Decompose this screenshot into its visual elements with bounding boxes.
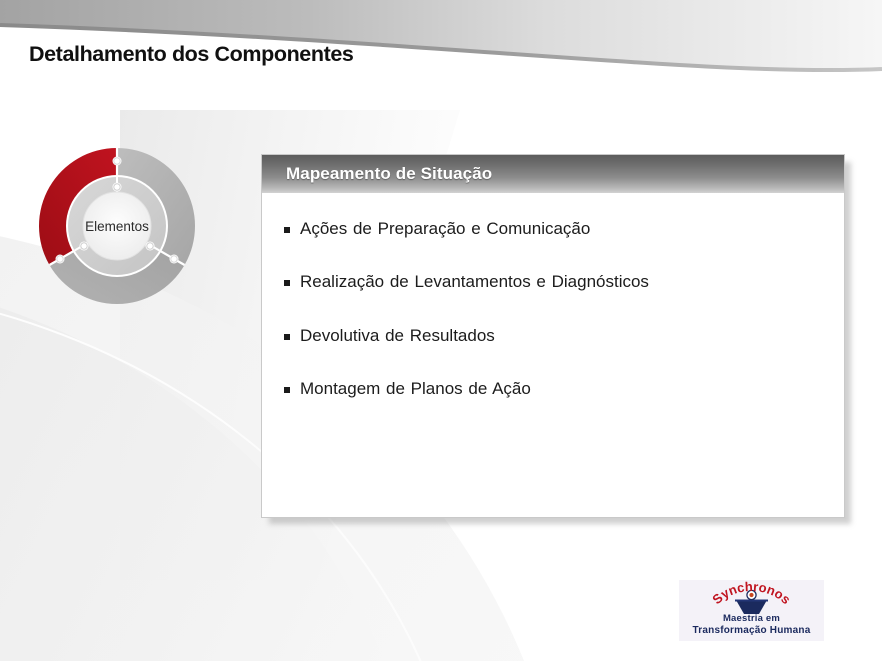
bullet-square-icon [284,334,290,340]
list-item-label: Realização de Levantamentos e Diagnóstic… [300,272,649,292]
content-card-title: Mapeamento de Situação [286,164,492,184]
list-item: Realização de Levantamentos e Diagnóstic… [284,272,824,292]
list-item: Ações de Preparação e Comunicação [284,219,824,239]
content-card: Mapeamento de Situação Ações de Preparaç… [261,154,845,518]
content-card-body: Ações de Preparação e Comunicação Realiz… [262,193,844,400]
list-item-label: Montagem de Planos de Ação [300,379,531,399]
list-item-label: Ações de Preparação e Comunicação [300,219,590,239]
bullet-square-icon [284,280,290,286]
content-card-header: Mapeamento de Situação [262,155,844,193]
page-title: Detalhamento dos Componentes [29,42,353,67]
puzzle-ring-diagram[interactable]: Elementos [34,143,200,309]
bullet-square-icon [284,387,290,393]
bullet-square-icon [284,227,290,233]
company-logo: Synchronos Maestria em Transformação Hum… [679,580,824,641]
logo-tagline-line-2: Transformação Humana [679,625,824,636]
slide: Detalhamento dos Componentes [0,0,882,661]
list-item: Montagem de Planos de Ação [284,379,824,399]
logo-tagline-line-1: Maestria em [679,613,824,624]
list-item: Devolutiva de Resultados [284,326,824,346]
list-item-label: Devolutiva de Resultados [300,326,495,346]
